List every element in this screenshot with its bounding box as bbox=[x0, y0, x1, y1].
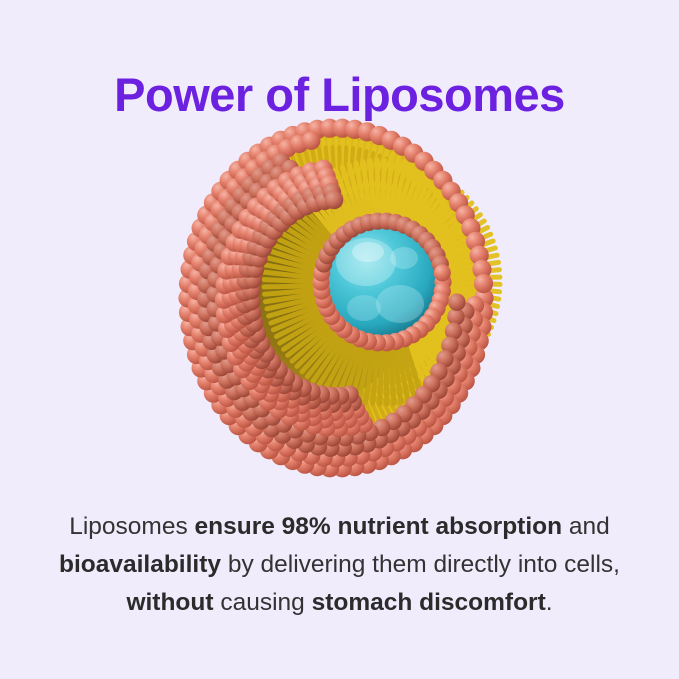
caption-emphasis: without bbox=[126, 589, 213, 616]
caption-emphasis: stomach discomfort bbox=[312, 589, 546, 616]
poster-canvas: Power of Liposomes bbox=[0, 0, 679, 679]
caption-text: . bbox=[546, 589, 553, 616]
liposome-illustration bbox=[168, 112, 508, 480]
caption-line: without causing stomach discomfort. bbox=[28, 584, 651, 622]
caption-text: by delivering them directly into cells, bbox=[221, 551, 620, 578]
caption-text: causing bbox=[214, 589, 312, 616]
caption-text: Liposomes bbox=[69, 513, 194, 540]
caption-block: Liposomes ensure 98% nutrient absorption… bbox=[28, 508, 651, 622]
caption-line: Liposomes ensure 98% nutrient absorption… bbox=[28, 508, 651, 546]
caption-emphasis: bioavailability bbox=[59, 551, 221, 578]
liposome-cutaway-icon bbox=[168, 112, 508, 480]
caption-emphasis: ensure 98% nutrient absorption bbox=[195, 513, 563, 540]
caption-text: and bbox=[562, 513, 610, 540]
caption-line: bioavailability by delivering them direc… bbox=[28, 546, 651, 584]
